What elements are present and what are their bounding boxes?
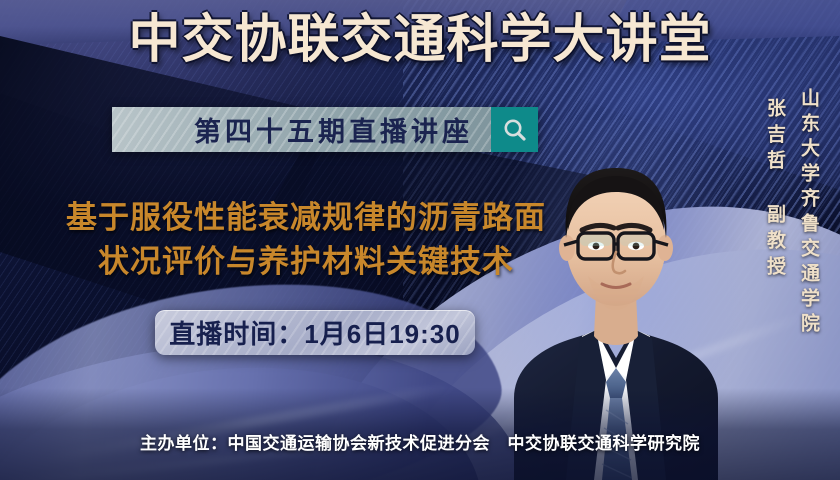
page-title: 中交协联交通科学大讲堂 [0, 14, 840, 66]
search-button[interactable] [491, 107, 538, 152]
headline-line-2: 状况评价与养护材料关键技术 [28, 240, 584, 284]
broadcast-time-text: 直播时间：1月6日19:30 [169, 314, 460, 351]
lecture-headline: 基于服役性能衰减规律的沥青路面 状况评价与养护材料关键技术 [28, 196, 584, 284]
search-icon [502, 117, 528, 143]
organizer-footer: 主办单位：中国交通运输协会新技术促进分会 中交协联交通科学研究院 [0, 429, 840, 454]
broadcast-time-badge: 直播时间：1月6日19:30 [155, 310, 475, 355]
episode-label: 第四十五期直播讲座 [130, 110, 473, 149]
speaker-name-and-title: 张吉哲 副教授 [761, 98, 788, 282]
headline-line-1: 基于服役性能衰减规律的沥青路面 [66, 200, 546, 235]
speaker-affiliation: 山东大学齐鲁交通学院 [795, 88, 822, 338]
episode-banner: 第四十五期直播讲座 [112, 107, 538, 152]
episode-banner-body: 第四十五期直播讲座 [112, 107, 491, 152]
lecture-poster: 中交协联交通科学大讲堂 第四十五期直播讲座 基于服役性能衰减规律的沥青路面 状况… [0, 0, 840, 480]
